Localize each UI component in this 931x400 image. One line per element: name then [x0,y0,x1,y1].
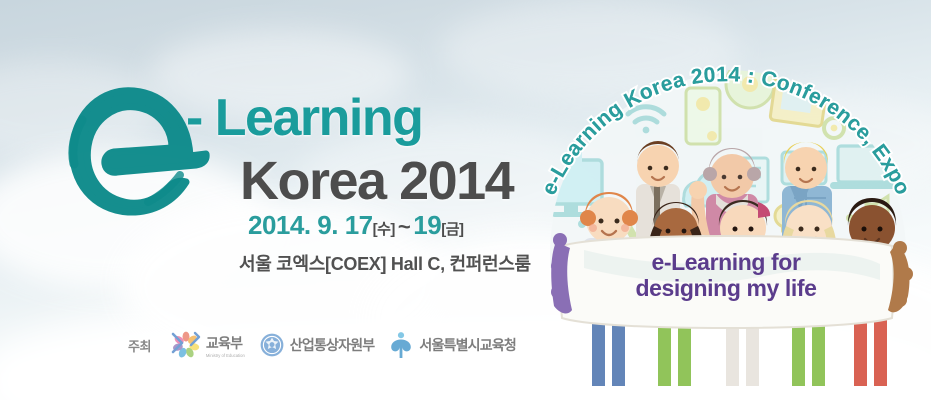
pinwheel-flower-icon [171,330,201,360]
event-date: 2014. 9. 17[수]~19[금] [248,210,464,241]
date-end: 19 [413,210,441,240]
elearning-korea-2014-banner: - Learning Korea 2014 2014. 9. 17[수]~19[… [0,0,931,400]
title-line-learning: - Learning [186,88,422,148]
date-prefix: 2014. 9. 17 [248,210,373,240]
event-venue: 서울 코엑스[COEX] Hall C, 컨퍼런스룸 [239,250,531,276]
sponsor-subtitle: Ministry of Education [206,353,245,358]
arc-text: e-Learning Korea 2014 : Conference, Expo… [520,18,931,400]
date-end-day-tag: [금] [441,221,463,238]
government-circle-emblem-icon [259,332,285,358]
illustration-block: e-Learning for designing my life e-Learn… [520,18,931,400]
sponsor-name: 산업통상자원부 [290,335,375,355]
host-label: 주최 [128,336,151,355]
sponsor-name: 서울특별시교육청 [419,335,516,355]
sponsor-name: 교육부 Ministry of Education [206,333,245,358]
arc-text-label-fill: e-Learning Korea 2014 : Conference, Expo [537,63,914,198]
sponsor-motie: 산업통상자원부 [259,332,375,358]
title-block: - Learning Korea 2014 2014. 9. 17[수]~19[… [0,0,560,400]
date-separator: ~ [395,214,413,239]
seoul-education-person-emblem-icon [388,331,414,359]
sponsor-row: 주최 [128,330,516,360]
title-line-korea: Korea 2014 [240,150,513,212]
sponsor-name-text: 교육부 [206,335,242,351]
sponsor-seoul-education-office: 서울특별시교육청 [388,331,516,359]
sponsor-ministry-of-education: 교육부 Ministry of Education [171,330,245,360]
date-start-day-tag: [수] [373,221,395,238]
